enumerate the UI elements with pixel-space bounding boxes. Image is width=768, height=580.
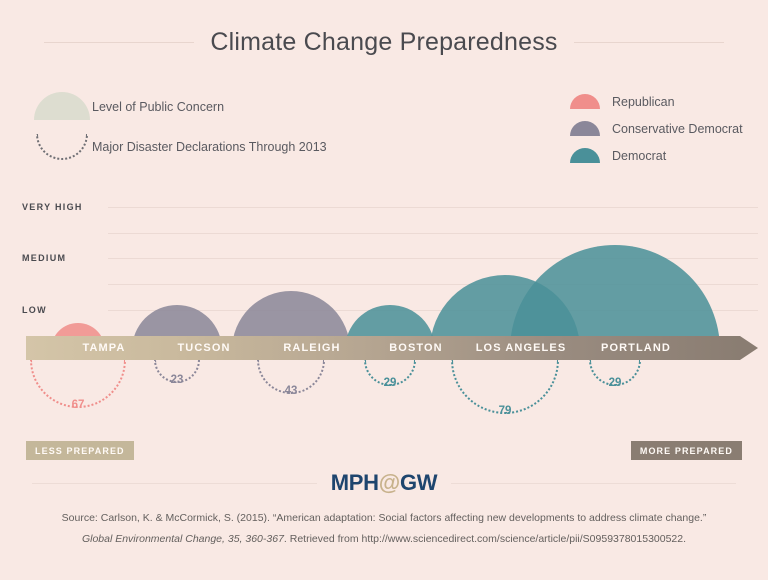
city-label-raleigh[interactable]: RALEIGH [260,336,364,360]
logo-rule-right [451,483,736,484]
chart-plot-area: VERY HIGH MEDIUM LOW [0,190,768,350]
disaster-value-portland: 29 [595,377,635,389]
status-badge-more-prepared: MORE PREPARED [631,441,742,460]
infographic-canvas: Climate Change Preparedness Level of Pub… [0,0,768,580]
legend-item-disaster-declarations: Major Disaster Declarations Through 2013 [34,132,454,172]
gridline [108,233,758,234]
disaster-value-tampa: 67 [58,399,98,411]
y-axis-tick-medium: MEDIUM [22,253,66,263]
disaster-value-los-angeles: 79 [485,405,525,417]
city-label-tucson[interactable]: TUCSON [152,336,256,360]
source-journal-title: Global Environmental Change, 35, 360-367 [82,533,284,545]
legend-item-label: Republican [612,95,675,109]
source-url-text: . Retrieved from http://www.sciencedirec… [284,533,686,545]
logo-at-icon: @ [379,470,400,495]
disaster-value-raleigh: 43 [271,385,311,397]
logo-text-pre: MPH [331,470,379,495]
legend-item-label: Level of Public Concern [92,100,224,114]
legend-item-label: Major Disaster Declarations Through 2013 [92,140,327,154]
dome-swatch-icon-democrat [570,148,600,163]
source-citation: Source: Carlson, K. & McCormick, S. (201… [0,508,768,550]
legend-item-democrat: Democrat [570,142,743,169]
disaster-arcs-group: 67 23 43 29 79 29 [0,360,768,440]
dome-swatch-icon-conservative-democrat [570,121,600,136]
dome-swatch-icon-republican [570,94,600,109]
legend-item-public-concern: Level of Public Concern [34,92,454,132]
brand-logo: MPH@GW [0,470,768,496]
legend-item-conservative-democrat: Conservative Democrat [570,115,743,142]
page-title-text: Climate Change Preparedness [210,28,557,57]
legend-item-republican: Republican [570,88,743,115]
legend-right: Republican Conservative Democrat Democra… [570,88,743,169]
status-badge-less-prepared: LESS PREPARED [26,441,134,460]
legend-item-label: Democrat [612,149,666,163]
disaster-value-tucson: 23 [157,374,197,386]
logo-text: MPH@GW [317,470,451,496]
page-title: Climate Change Preparedness [0,28,768,57]
gridline [108,207,758,208]
logo-rule-left [32,483,317,484]
dome-swatch-icon [34,92,90,120]
city-label-tampa[interactable]: TAMPA [52,336,156,360]
title-rule-left [44,42,194,43]
city-axis-bar: TAMPA TUCSON RALEIGH BOSTON LOS ANGELES … [26,336,758,360]
city-label-portland[interactable]: PORTLAND [574,336,698,360]
y-axis-tick-very-high: VERY HIGH [22,202,83,212]
source-line-2: Global Environmental Change, 35, 360-367… [0,529,768,550]
source-line-1: Source: Carlson, K. & McCormick, S. (201… [0,508,768,529]
y-axis-tick-low: LOW [22,305,47,315]
dotted-arc-swatch-icon [36,134,88,160]
legend-item-label: Conservative Democrat [612,122,743,136]
axis-bar-arrow-icon [740,336,758,360]
disaster-value-boston: 29 [370,377,410,389]
title-rule-right [574,42,724,43]
logo-text-post: GW [400,470,437,495]
city-label-los-angeles[interactable]: LOS ANGELES [450,336,592,360]
legend-left: Level of Public Concern Major Disaster D… [34,92,454,172]
